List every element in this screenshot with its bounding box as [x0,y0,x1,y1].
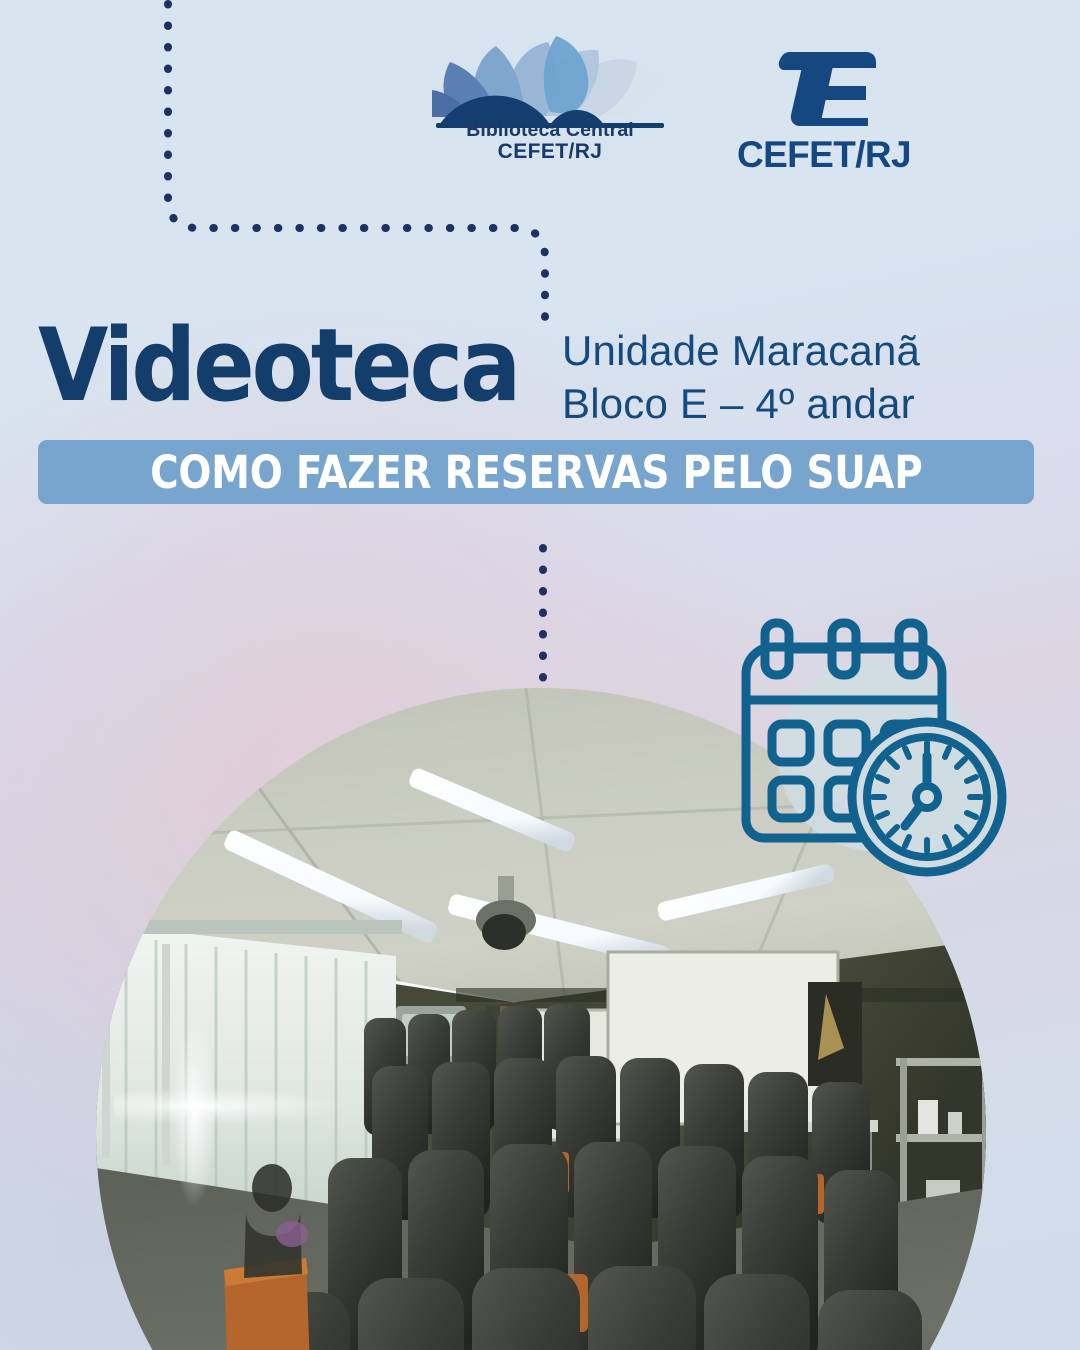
biblioteca-caption-line2: CEFET/RJ [437,141,663,162]
page-title: Videoteca [38,315,518,416]
calendar-clock-icon [724,612,1008,878]
instruction-banner: COMO FAZER RESERVAS PELO SUAP [38,440,1034,504]
page-subtitle: Unidade Maracanã Bloco E – 4º andar [562,325,1032,431]
biblioteca-caption-line1: Biblioteca Central [437,121,663,141]
biblioteca-central-logo: Biblioteca Central CEFET/RJ [432,20,668,180]
instruction-banner-text: COMO FAZER RESERVAS PELO SUAP [150,446,922,499]
poster-root: Biblioteca Central CEFET/RJ CEFET/RJ Vid… [0,0,1080,1350]
cefet-monogram-icon [770,50,880,128]
biblioteca-logo-caption: Biblioteca Central CEFET/RJ [437,121,663,163]
cefet-rj-logo: CEFET/RJ [718,50,930,180]
headline-block: Videoteca Unidade Maracanã Bloco E – 4º … [38,315,1042,435]
subtitle-line-1: Unidade Maracanã [562,325,1032,378]
logo-row: Biblioteca Central CEFET/RJ CEFET/RJ [0,14,1080,184]
subtitle-line-2: Bloco E – 4º andar [562,378,1032,431]
cefet-rj-wordmark: CEFET/RJ [718,134,930,176]
